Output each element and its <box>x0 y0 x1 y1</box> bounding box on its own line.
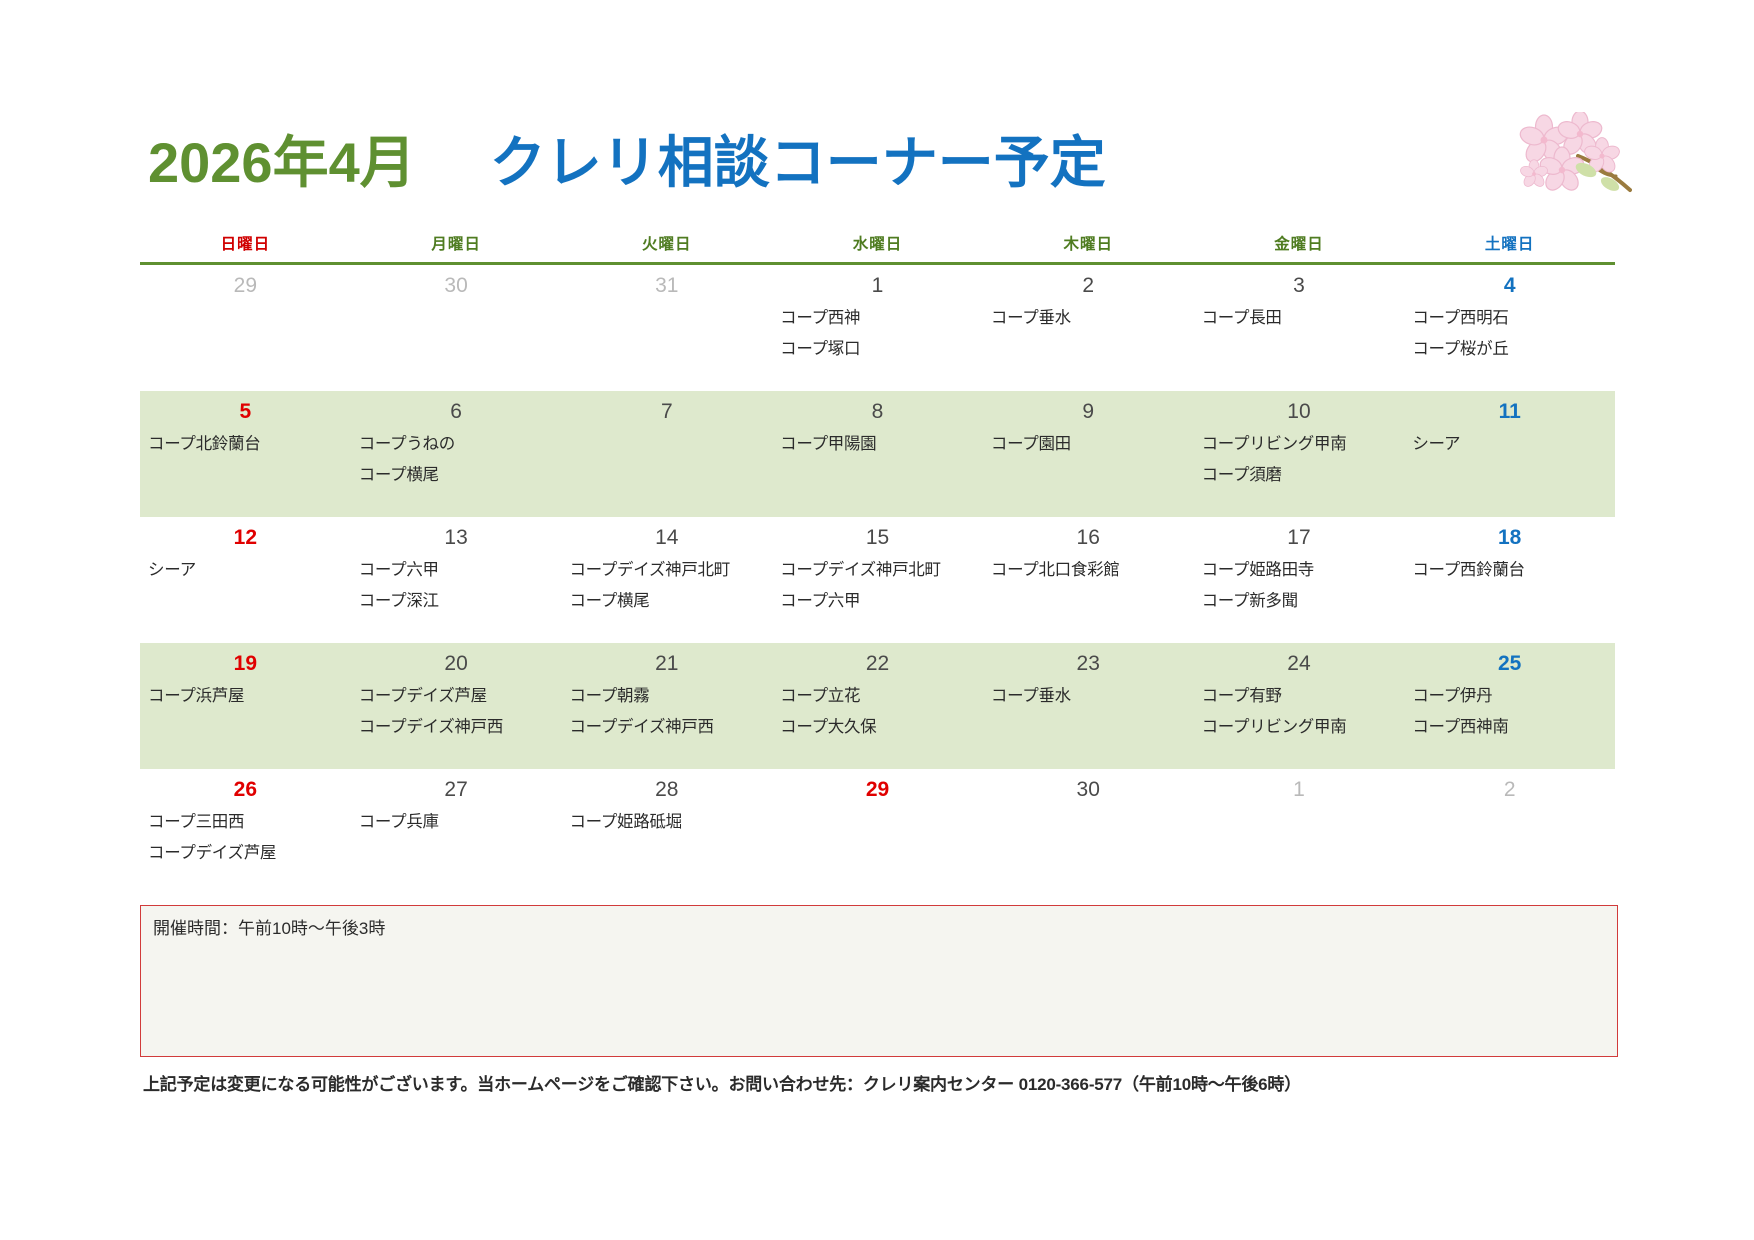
day-events: コープデイズ神戸北町コープ六甲 <box>772 555 983 617</box>
day-events: シーア <box>140 555 351 586</box>
day-events: コープリビング甲南コープ須磨 <box>1194 429 1405 491</box>
day-of-week-header-row: 日曜日月曜日火曜日水曜日木曜日金曜日土曜日 <box>140 232 1615 262</box>
day-number: 28 <box>561 775 772 805</box>
day-of-week-header: 水曜日 <box>772 232 983 262</box>
page-title: 2026年4月 クレリ相談コーナー予定 <box>148 118 1106 199</box>
event-item: コープ新多聞 <box>1202 586 1405 617</box>
calendar-day-cell[interactable]: 15コープデイズ神戸北町コープ六甲 <box>772 517 983 643</box>
day-number: 16 <box>983 523 1194 553</box>
calendar-day-cell[interactable]: 16コープ北口食彩館 <box>983 517 1194 643</box>
calendar-day-cell[interactable]: 31 <box>561 265 772 391</box>
event-item: コープ朝霧 <box>569 681 772 712</box>
event-item: コープ浜芦屋 <box>148 681 351 712</box>
day-events: コープうねのコープ横尾 <box>351 429 562 491</box>
day-events: コープ垂水 <box>983 303 1194 334</box>
day-number: 23 <box>983 649 1194 679</box>
event-item: コープ姫路田寺 <box>1202 555 1405 586</box>
calendar-day-cell[interactable]: 19コープ浜芦屋 <box>140 643 351 769</box>
calendar-day-cell[interactable]: 8コープ甲陽園 <box>772 391 983 517</box>
calendar-day-cell[interactable]: 26コープ三田西コープデイズ芦屋 <box>140 769 351 895</box>
calendar-week-row: 19コープ浜芦屋20コープデイズ芦屋コープデイズ神戸西21コープ朝霧コープデイズ… <box>140 643 1615 769</box>
day-events: コープ六甲コープ深江 <box>351 555 562 617</box>
event-item: コープうねの <box>359 429 562 460</box>
day-number: 25 <box>1404 649 1615 679</box>
event-item: コープ西鈴蘭台 <box>1412 555 1615 586</box>
calendar-day-cell[interactable]: 24コープ有野コープリビング甲南 <box>1194 643 1405 769</box>
day-events: コープ立花コープ大久保 <box>772 681 983 743</box>
day-number: 13 <box>351 523 562 553</box>
event-item: コープ園田 <box>991 429 1194 460</box>
day-number: 12 <box>140 523 351 553</box>
title-main: クレリ相談コーナー予定 <box>490 118 1106 199</box>
event-item: コープ北口食彩館 <box>991 555 1194 586</box>
event-item: コープデイズ神戸北町 <box>569 555 772 586</box>
event-item: コープ横尾 <box>569 586 772 617</box>
day-events: シーア <box>1404 429 1615 460</box>
day-number: 30 <box>351 271 562 301</box>
day-events: コープ姫路田寺コープ新多聞 <box>1194 555 1405 617</box>
calendar-day-cell[interactable]: 2コープ垂水 <box>983 265 1194 391</box>
event-item: コープ塚口 <box>780 334 983 365</box>
sakura-branch-icon <box>1482 112 1632 222</box>
day-events: コープ北鈴蘭台 <box>140 429 351 460</box>
day-number: 10 <box>1194 397 1405 427</box>
calendar-day-cell[interactable]: 12シーア <box>140 517 351 643</box>
day-number: 30 <box>983 775 1194 805</box>
day-number: 11 <box>1404 397 1615 427</box>
day-number: 19 <box>140 649 351 679</box>
event-item: コープ六甲 <box>359 555 562 586</box>
day-events: コープ有野コープリビング甲南 <box>1194 681 1405 743</box>
event-item: コープデイズ芦屋 <box>148 838 351 869</box>
notes-box: 開催時間：午前10時〜午後3時 <box>140 905 1618 1057</box>
calendar-day-cell[interactable]: 22コープ立花コープ大久保 <box>772 643 983 769</box>
event-item: コープ姫路砥堀 <box>569 807 772 838</box>
calendar-grid: 日曜日月曜日火曜日水曜日木曜日金曜日土曜日 2930311コープ西神コープ塚口2… <box>140 232 1615 895</box>
event-item: コープ六甲 <box>780 586 983 617</box>
day-events: コープデイズ芦屋コープデイズ神戸西 <box>351 681 562 743</box>
calendar-day-cell[interactable]: 17コープ姫路田寺コープ新多聞 <box>1194 517 1405 643</box>
day-number: 2 <box>983 271 1194 301</box>
event-item: コープ横尾 <box>359 460 562 491</box>
day-number: 21 <box>561 649 772 679</box>
day-number: 4 <box>1404 271 1615 301</box>
calendar-day-cell[interactable]: 23コープ垂水 <box>983 643 1194 769</box>
event-item: コープ北鈴蘭台 <box>148 429 351 460</box>
event-item: コープ三田西 <box>148 807 351 838</box>
event-item: コープ立花 <box>780 681 983 712</box>
day-events: コープ三田西コープデイズ芦屋 <box>140 807 351 869</box>
note-hours: 開催時間：午前10時〜午後3時 <box>153 916 1605 942</box>
day-events: コープ北口食彩館 <box>983 555 1194 586</box>
day-number: 5 <box>140 397 351 427</box>
day-number: 1 <box>772 271 983 301</box>
day-events: コープ垂水 <box>983 681 1194 712</box>
event-item: コープ有野 <box>1202 681 1405 712</box>
event-item: コープ長田 <box>1202 303 1405 334</box>
calendar-day-cell[interactable]: 11シーア <box>1404 391 1615 517</box>
day-events: コープ伊丹コープ西神南 <box>1404 681 1615 743</box>
event-item: シーア <box>1412 429 1615 460</box>
day-of-week-header: 木曜日 <box>983 232 1194 262</box>
day-number: 22 <box>772 649 983 679</box>
event-item: コープ西神南 <box>1412 712 1615 743</box>
calendar-day-cell[interactable]: 7 <box>561 391 772 517</box>
event-item: コープ甲陽園 <box>780 429 983 460</box>
event-item: コープ西神 <box>780 303 983 334</box>
event-item: コープデイズ芦屋 <box>359 681 562 712</box>
day-number: 17 <box>1194 523 1405 553</box>
calendar-day-cell[interactable]: 10コープリビング甲南コープ須磨 <box>1194 391 1405 517</box>
day-number: 24 <box>1194 649 1405 679</box>
day-events: コープ浜芦屋 <box>140 681 351 712</box>
title-month: 2026年4月 <box>148 118 416 199</box>
calendar-day-cell[interactable]: 30 <box>351 265 562 391</box>
calendar-weeks: 2930311コープ西神コープ塚口2コープ垂水3コープ長田4コープ西明石コープ桜… <box>140 265 1615 895</box>
day-events: コープ甲陽園 <box>772 429 983 460</box>
day-number: 29 <box>140 271 351 301</box>
calendar-day-cell[interactable]: 2 <box>1404 769 1615 895</box>
event-item: コープ伊丹 <box>1412 681 1615 712</box>
day-events: コープ西明石コープ桜が丘 <box>1404 303 1615 365</box>
event-item: コープ西明石 <box>1412 303 1615 334</box>
day-events: コープ兵庫 <box>351 807 562 838</box>
calendar-day-cell[interactable]: 21コープ朝霧コープデイズ神戸西 <box>561 643 772 769</box>
day-number: 1 <box>1194 775 1405 805</box>
event-item: コープリビング甲南 <box>1202 712 1405 743</box>
calendar-week-row: 2930311コープ西神コープ塚口2コープ垂水3コープ長田4コープ西明石コープ桜… <box>140 265 1615 391</box>
event-item: コープ垂水 <box>991 303 1194 334</box>
day-of-week-header: 金曜日 <box>1194 232 1405 262</box>
day-events: コープ西神コープ塚口 <box>772 303 983 365</box>
day-number: 8 <box>772 397 983 427</box>
day-number: 18 <box>1404 523 1615 553</box>
day-number: 15 <box>772 523 983 553</box>
day-events: コープ西鈴蘭台 <box>1404 555 1615 586</box>
calendar-day-cell[interactable]: 5コープ北鈴蘭台 <box>140 391 351 517</box>
event-item: コープデイズ神戸西 <box>359 712 562 743</box>
day-number: 14 <box>561 523 772 553</box>
footnote-text: 上記予定は変更になる可能性がございます。当ホームページをご確認下さい。お問い合わ… <box>143 1070 1301 1095</box>
calendar-day-cell[interactable]: 3コープ長田 <box>1194 265 1405 391</box>
day-number: 9 <box>983 397 1194 427</box>
day-events: コープ園田 <box>983 429 1194 460</box>
event-item: コープデイズ神戸北町 <box>780 555 983 586</box>
event-item: コープ須磨 <box>1202 460 1405 491</box>
calendar-page: 2026年4月 クレリ相談コーナー予定 <box>0 0 1754 1240</box>
calendar-day-cell[interactable]: 29 <box>140 265 351 391</box>
calendar-day-cell[interactable]: 9コープ園田 <box>983 391 1194 517</box>
day-number: 26 <box>140 775 351 805</box>
day-events: コープ朝霧コープデイズ神戸西 <box>561 681 772 743</box>
event-item: コープ大久保 <box>780 712 983 743</box>
day-number: 2 <box>1404 775 1615 805</box>
event-item: コープデイズ神戸西 <box>569 712 772 743</box>
day-of-week-header: 土曜日 <box>1404 232 1615 262</box>
day-number: 27 <box>351 775 562 805</box>
calendar-day-cell[interactable]: 20コープデイズ芦屋コープデイズ神戸西 <box>351 643 562 769</box>
calendar-day-cell[interactable]: 28コープ姫路砥堀 <box>561 769 772 895</box>
calendar-day-cell[interactable]: 29 <box>772 769 983 895</box>
day-number: 3 <box>1194 271 1405 301</box>
calendar-day-cell[interactable]: 1 <box>1194 769 1405 895</box>
calendar-day-cell[interactable]: 30 <box>983 769 1194 895</box>
calendar-week-row: 26コープ三田西コープデイズ芦屋27コープ兵庫28コープ姫路砥堀293012 <box>140 769 1615 895</box>
calendar-day-cell[interactable]: 27コープ兵庫 <box>351 769 562 895</box>
event-item: コープ桜が丘 <box>1412 334 1615 365</box>
calendar-week-row: 5コープ北鈴蘭台6コープうねのコープ横尾78コープ甲陽園9コープ園田10コープリ… <box>140 391 1615 517</box>
calendar-day-cell[interactable]: 14コープデイズ神戸北町コープ横尾 <box>561 517 772 643</box>
calendar-day-cell[interactable]: 25コープ伊丹コープ西神南 <box>1404 643 1615 769</box>
calendar-day-cell[interactable]: 4コープ西明石コープ桜が丘 <box>1404 265 1615 391</box>
day-number: 20 <box>351 649 562 679</box>
day-of-week-header: 月曜日 <box>351 232 562 262</box>
calendar-week-row: 12シーア13コープ六甲コープ深江14コープデイズ神戸北町コープ横尾15コープデ… <box>140 517 1615 643</box>
event-item: コープ深江 <box>359 586 562 617</box>
day-number: 6 <box>351 397 562 427</box>
calendar-day-cell[interactable]: 1コープ西神コープ塚口 <box>772 265 983 391</box>
event-item: コープ兵庫 <box>359 807 562 838</box>
day-events: コープ姫路砥堀 <box>561 807 772 838</box>
event-item: コープリビング甲南 <box>1202 429 1405 460</box>
day-of-week-header: 日曜日 <box>140 232 351 262</box>
calendar-day-cell[interactable]: 13コープ六甲コープ深江 <box>351 517 562 643</box>
day-of-week-header: 火曜日 <box>561 232 772 262</box>
event-item: コープ垂水 <box>991 681 1194 712</box>
day-number: 29 <box>772 775 983 805</box>
calendar-day-cell[interactable]: 18コープ西鈴蘭台 <box>1404 517 1615 643</box>
day-number: 31 <box>561 271 772 301</box>
event-item: シーア <box>148 555 351 586</box>
day-events: コープ長田 <box>1194 303 1405 334</box>
day-number: 7 <box>561 397 772 427</box>
calendar-day-cell[interactable]: 6コープうねのコープ横尾 <box>351 391 562 517</box>
day-events: コープデイズ神戸北町コープ横尾 <box>561 555 772 617</box>
